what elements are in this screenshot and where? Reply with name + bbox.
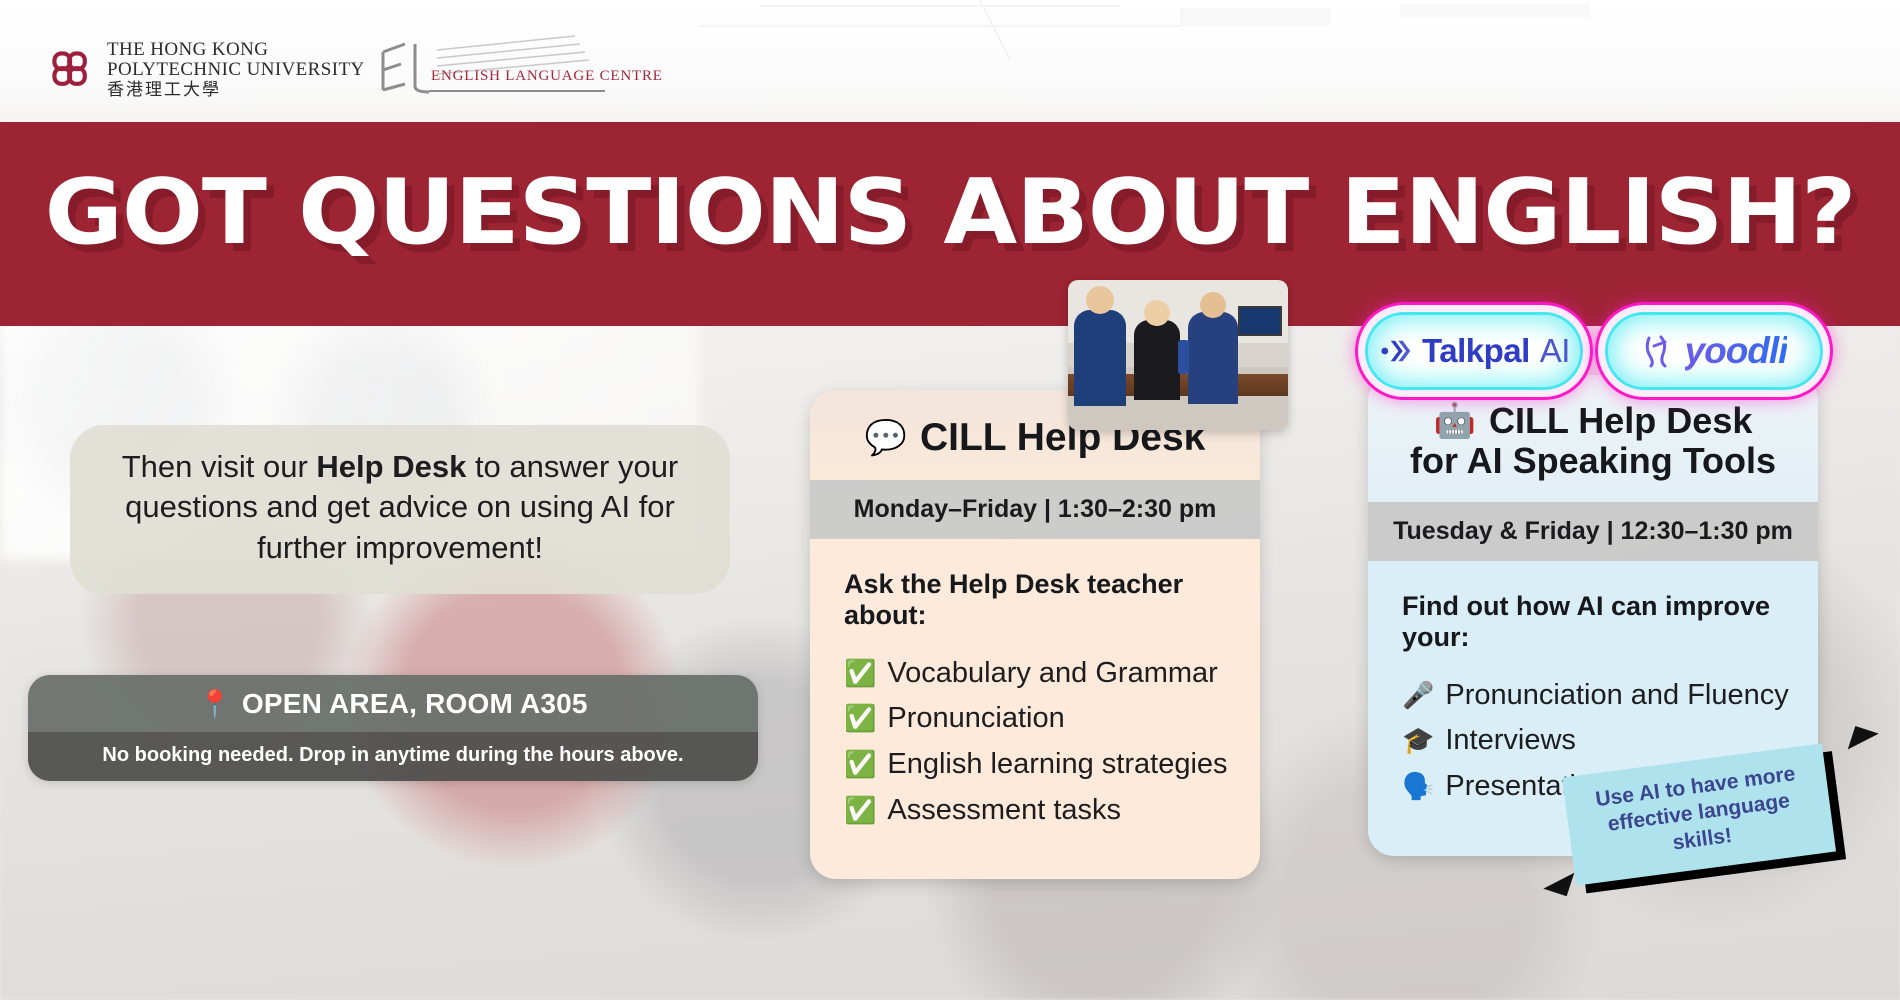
list-item: ✅ Pronunciation xyxy=(844,702,1226,736)
check-mark-icon: ✅ xyxy=(844,794,876,827)
talkpal-name: Talkpal xyxy=(1422,332,1530,370)
ai-card-title-line1: CILL Help Desk xyxy=(1489,401,1752,441)
list-item-label: English learning strategies xyxy=(887,748,1227,782)
list-item-label: Interviews xyxy=(1445,724,1576,758)
cill-schedule: Monday–Friday | 1:30–2:30 pm xyxy=(854,495,1217,523)
talkpal-suffix: AI xyxy=(1540,332,1570,370)
list-item: ✅ Vocabulary and Grammar xyxy=(844,657,1226,691)
ai-card-title-row: 🤖 CILL Help Desk xyxy=(1390,401,1796,441)
page-title: GOT QUESTIONS ABOUT ENGLISH? xyxy=(0,160,1900,265)
polyu-emblem-icon xyxy=(48,47,94,93)
location-card: 📍 OPEN AREA, ROOM A305 No booking needed… xyxy=(28,675,758,781)
cill-card-body: Ask the Help Desk teacher about: ✅ Vocab… xyxy=(810,539,1260,880)
location-header: 📍 OPEN AREA, ROOM A305 xyxy=(28,675,758,732)
photo-wall-screen xyxy=(1238,306,1282,336)
list-item-label: Assessment tasks xyxy=(887,794,1121,828)
polyu-wordmark: THE HONG KONG POLYTECHNIC UNIVERSITY 香港理… xyxy=(107,40,365,99)
speech-balloon-icon: 💬 xyxy=(865,421,907,455)
map-pin-icon: 📍 xyxy=(198,691,232,718)
list-item-label: Pronunciation xyxy=(887,702,1064,736)
elc-logo: ENGLISH LANGUAGE CENTRE xyxy=(375,34,605,96)
robot-icon: 🤖 xyxy=(1434,404,1476,438)
yoodli-name: yoodli xyxy=(1685,330,1788,372)
list-item-label: Vocabulary and Grammar xyxy=(887,657,1217,691)
location-note: No booking needed. Drop in anytime durin… xyxy=(102,744,683,766)
elc-underline xyxy=(429,90,605,92)
ai-subheading: Find out how AI can improve your: xyxy=(1402,591,1784,653)
header-logos: THE HONG KONG POLYTECHNIC UNIVERSITY 香港理… xyxy=(0,0,1900,118)
intro-text-panel: Then visit our Help Desk to answer your … xyxy=(70,425,730,594)
location-footer: No booking needed. Drop in anytime durin… xyxy=(28,732,758,781)
photo-head-3 xyxy=(1200,292,1226,318)
ai-schedule: Tuesday & Friday | 12:30–1:30 pm xyxy=(1393,517,1793,545)
photo-person-2 xyxy=(1134,320,1180,400)
intro-paragraph: Then visit our Help Desk to answer your … xyxy=(100,447,700,568)
graduation-cap-icon: 🎓 xyxy=(1402,724,1434,757)
cill-subheading: Ask the Help Desk teacher about: xyxy=(844,569,1226,631)
list-item: 🎓 Interviews xyxy=(1402,724,1784,758)
intro-text-before: Then visit our xyxy=(122,449,317,484)
ai-schedule-strip: Tuesday & Friday | 12:30–1:30 pm xyxy=(1368,502,1818,561)
title-banner: GOT QUESTIONS ABOUT ENGLISH? xyxy=(0,122,1900,326)
cill-schedule-strip: Monday–Friday | 1:30–2:30 pm xyxy=(810,480,1260,539)
photo-head-2 xyxy=(1144,300,1170,326)
photo-person-1 xyxy=(1074,310,1126,406)
elc-name-label: ENGLISH LANGUAGE CENTRE xyxy=(431,68,663,85)
cill-help-desk-card: 💬 CILL Help Desk Monday–Friday | 1:30–2:… xyxy=(810,390,1260,879)
talkpal-logo-icon xyxy=(1378,334,1412,368)
list-item-label: Pronunciation and Fluency xyxy=(1445,679,1788,713)
check-mark-icon: ✅ xyxy=(844,702,876,735)
yoodli-badge[interactable]: yoodli xyxy=(1605,312,1823,390)
list-item: ✅ English learning strategies xyxy=(844,748,1226,782)
elc-emblem-icon xyxy=(375,34,605,96)
polyu-chinese-name: 香港理工大學 xyxy=(107,81,365,99)
yoodli-logo-icon xyxy=(1641,332,1675,370)
poster-root: THE HONG KONG POLYTECHNIC UNIVERSITY 香港理… xyxy=(0,0,1900,1000)
ai-card-title-line2: for AI Speaking Tools xyxy=(1390,441,1796,481)
ai-card-header: 🤖 CILL Help Desk for AI Speaking Tools xyxy=(1368,375,1818,502)
check-mark-icon: ✅ xyxy=(844,657,876,690)
intro-text-bold: Help Desk xyxy=(316,449,466,484)
microphone-icon: 🎤 xyxy=(1402,679,1434,712)
check-mark-icon: ✅ xyxy=(844,748,876,781)
photo-person-3 xyxy=(1188,312,1238,404)
help-desk-photo xyxy=(1068,280,1288,430)
speaking-head-icon: 🗣️ xyxy=(1402,770,1434,803)
polyu-line-1: THE HONG KONG xyxy=(107,40,365,60)
talkpal-badge[interactable]: Talkpal AI xyxy=(1365,312,1583,390)
photo-water-bottle xyxy=(1178,340,1189,374)
polyu-line-2: POLYTECHNIC UNIVERSITY xyxy=(107,60,365,80)
list-item: 🎤 Pronunciation and Fluency xyxy=(1402,679,1784,713)
polyu-logo: THE HONG KONG POLYTECHNIC UNIVERSITY 香港理… xyxy=(48,40,365,99)
cill-topic-list: ✅ Vocabulary and Grammar ✅ Pronunciation… xyxy=(844,657,1226,828)
list-item: ✅ Assessment tasks xyxy=(844,794,1226,828)
location-title: OPEN AREA, ROOM A305 xyxy=(242,688,588,720)
photo-head-1 xyxy=(1086,286,1114,314)
